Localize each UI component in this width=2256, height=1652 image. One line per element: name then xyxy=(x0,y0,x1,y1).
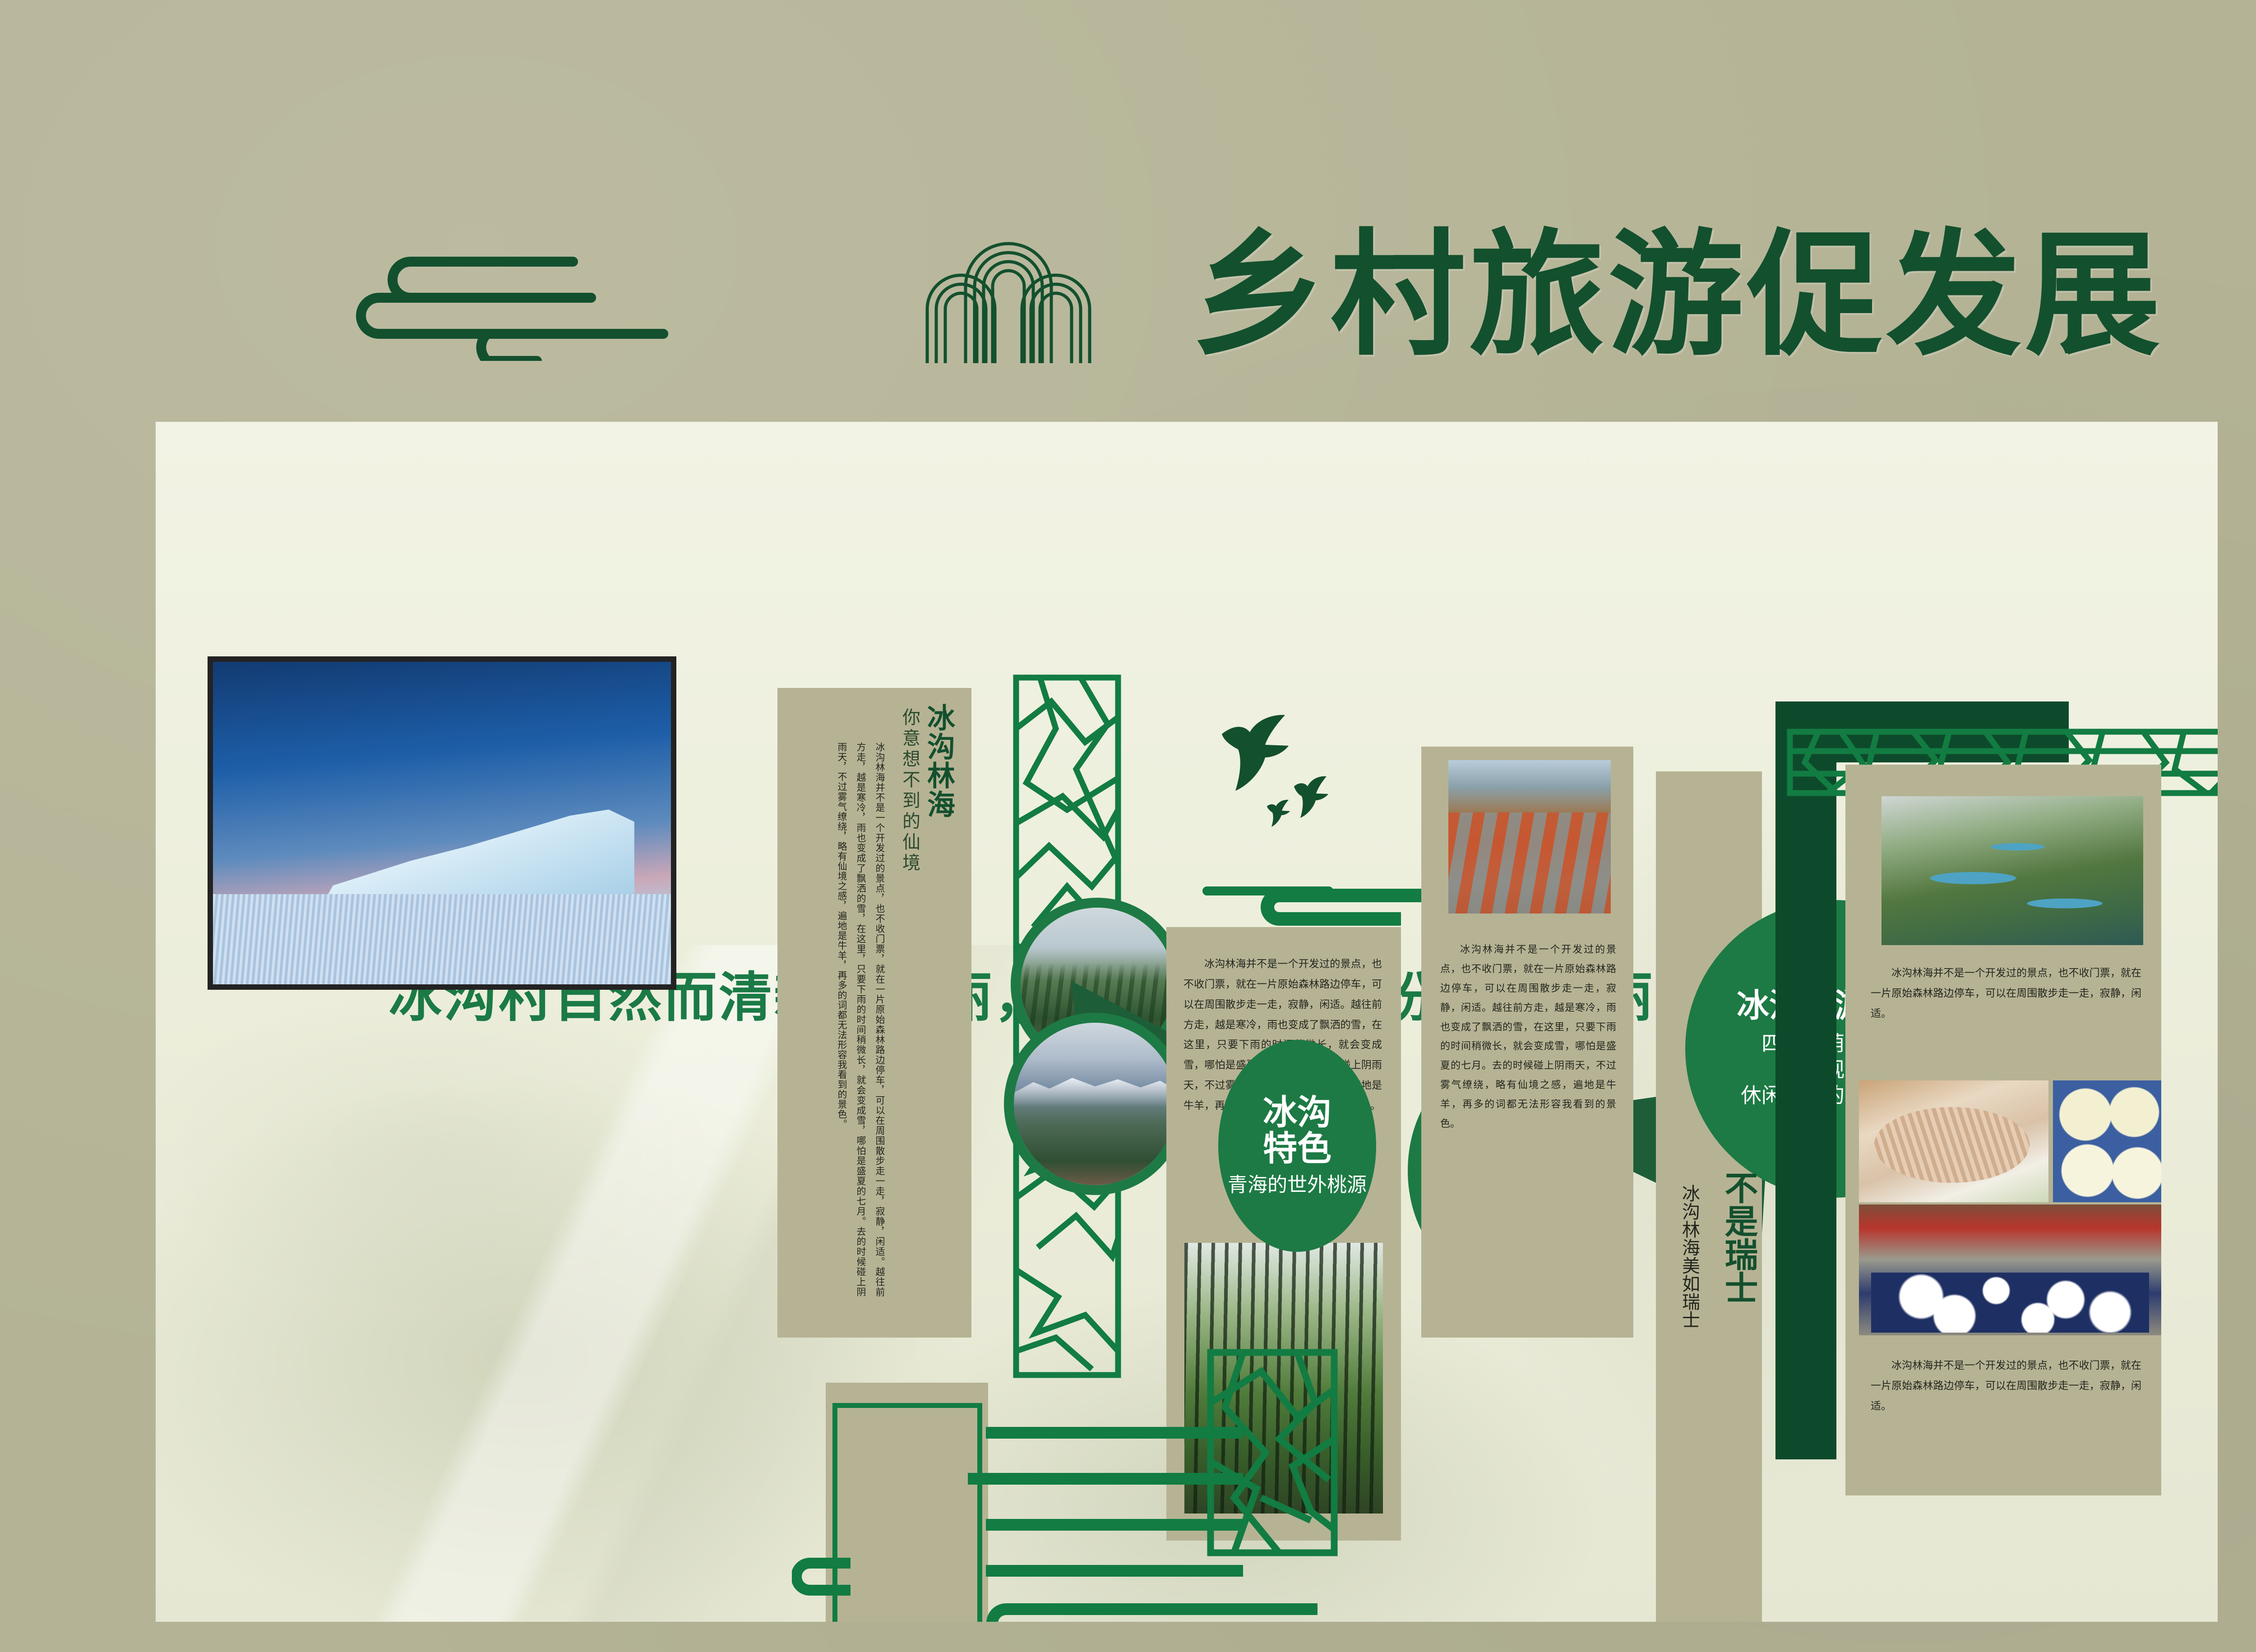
photo-watermark: XINHUA xyxy=(2063,1297,2143,1317)
main-panel: 冰沟村自然而清新的美丽，没有刻意的打扮，却美丽的惊心动魄。 冰沟林海 你意想不到… xyxy=(156,422,2218,1622)
pill-line xyxy=(1252,886,1442,927)
stripe-line xyxy=(986,1427,1243,1439)
iceberg-photo-frame xyxy=(208,656,676,990)
right-text-card: 冰沟林海并不是一个开发过的景点，也不收门票，就在一片原始森林路边停车，可以在周围… xyxy=(1421,747,1633,1338)
linhai-body: 冰沟林海并不是一个开发过的景点，也不收门票，就在一片原始森林路边停车，可以在周围… xyxy=(790,742,889,1297)
stripe-line xyxy=(968,1473,1243,1485)
meat-dish-photo xyxy=(1859,1080,2048,1202)
swiss-title: 不是瑞士 xyxy=(1715,1171,1763,1396)
linhai-subtitle: 你意想不到的仙境 xyxy=(897,708,923,897)
three-flying-birds-icon xyxy=(1218,711,1349,828)
far-right-top-paragraph: 冰沟林海并不是一个开发过的景点，也不收门票，就在一片原始森林路边停车，可以在周围… xyxy=(1871,963,2141,1024)
snow-mountain-circle-photo xyxy=(1004,1013,1186,1195)
dark-green-column xyxy=(1775,701,1836,1459)
linhai-card: 冰沟林海 你意想不到的仙境 冰沟林海并不是一个开发过的景点，也不收门票，就在一片… xyxy=(777,688,971,1338)
village-rooftops-photo xyxy=(1448,760,1611,914)
yogurt-bowls-photo xyxy=(2053,1080,2161,1202)
pill-line-left xyxy=(792,1554,855,1604)
arch-mountain-lines-icon xyxy=(918,174,1099,363)
stripe-line xyxy=(986,1519,1243,1531)
callout-caption: 青海的世外桃源 xyxy=(1228,1172,1367,1197)
header: 乡村旅游促发展 xyxy=(0,0,2256,422)
crackle-mosaic-column xyxy=(1207,1349,1338,1556)
stripe-line xyxy=(986,1565,1243,1577)
far-right-bottom-paragraph: 冰沟林海并不是一个开发过的景点，也不收门票，就在一片原始森林路边停车，可以在周围… xyxy=(1871,1356,2141,1417)
callout-title: 冰沟特色 xyxy=(1263,1094,1331,1166)
linhai-title: 冰沟林海 xyxy=(918,703,959,866)
page-title: 乡村旅游促发展 xyxy=(1191,228,2164,363)
poster-root: 乡村旅游促发展 冰沟村自然而清新的美丽，没有刻意的打扮，却美丽的惊心动魄。 冰沟… xyxy=(0,0,2256,1652)
aerial-village-plan-photo xyxy=(1882,796,2143,945)
far-right-card: 冰沟林海并不是一个开发过的景点，也不收门票，就在一片原始森林路边停车，可以在周围… xyxy=(1845,765,2161,1495)
village-market-photo: XINHUA xyxy=(1859,1204,2161,1335)
callout-bingou-tese[interactable]: 冰沟特色 青海的世外桃源 xyxy=(1218,1040,1376,1252)
swiss-caption: 冰沟林海美如瑞士 xyxy=(1676,1184,1702,1396)
right-paragraph: 冰沟林海并不是一个开发过的景点，也不收门票，就在一片原始森林路边停车，可以在周围… xyxy=(1440,941,1616,1134)
pill-line-lower xyxy=(986,1600,1320,1622)
iceberg-photo xyxy=(213,662,671,984)
